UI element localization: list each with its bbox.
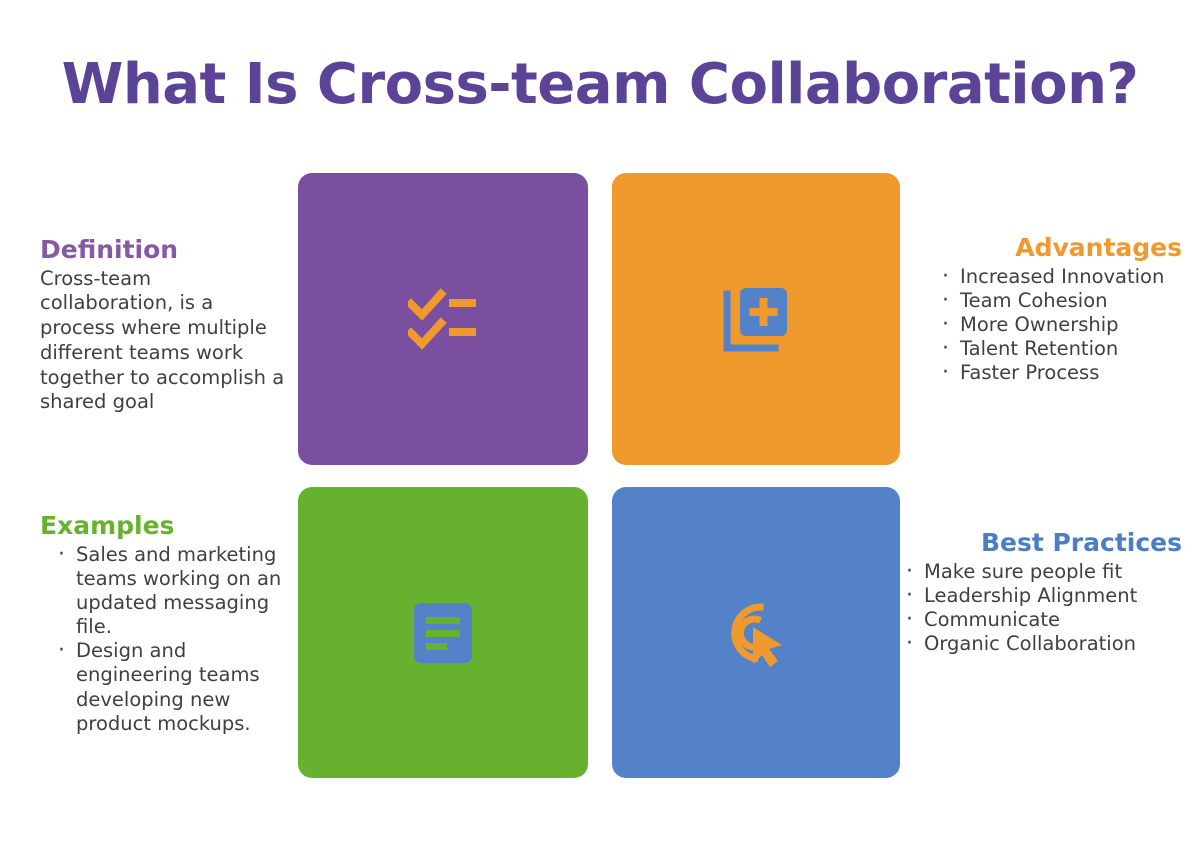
tile-examples	[298, 487, 588, 778]
heading-examples: Examples	[40, 512, 288, 540]
checklist-icon	[408, 288, 478, 350]
examples-list: Sales and marketing teams working on an …	[40, 543, 288, 736]
list-item: Faster Process	[938, 361, 1182, 385]
heading-best-practices: Best Practices	[902, 529, 1182, 557]
list-item: Organic Collaboration	[902, 632, 1182, 656]
advantages-list: Increased Innovation Team Cohesion More …	[920, 265, 1182, 386]
section-advantages: Advantages Increased Innovation Team Coh…	[920, 234, 1182, 385]
click-target-cursor-icon	[720, 597, 792, 669]
add-layer-icon	[721, 284, 791, 354]
tile-advantages	[612, 173, 900, 465]
section-examples: Examples Sales and marketing teams worki…	[40, 512, 288, 736]
list-item: Increased Innovation	[938, 265, 1182, 289]
tile-definition	[298, 173, 588, 465]
heading-advantages: Advantages	[920, 234, 1182, 262]
section-best-practices: Best Practices Make sure people fit Lead…	[902, 529, 1182, 656]
document-lines-icon	[414, 603, 472, 663]
section-definition: Definition Cross-team collaboration, is …	[40, 236, 288, 415]
heading-definition: Definition	[40, 236, 288, 264]
list-item: Leadership Alignment	[902, 584, 1182, 608]
list-item: Team Cohesion	[938, 289, 1182, 313]
list-item: Sales and marketing teams working on an …	[54, 543, 288, 640]
tile-best-practices	[612, 487, 900, 778]
list-item: Talent Retention	[938, 337, 1182, 361]
list-item: More Ownership	[938, 313, 1182, 337]
definition-body: Cross-team collaboration, is a process w…	[40, 267, 288, 416]
best-practices-list: Make sure people fit Leadership Alignmen…	[902, 560, 1182, 657]
page-title: What Is Cross-team Collaboration?	[0, 52, 1200, 117]
list-item: Design and engineering teams developing …	[54, 639, 288, 736]
list-item: Communicate	[902, 608, 1182, 632]
list-item: Make sure people fit	[902, 560, 1182, 584]
